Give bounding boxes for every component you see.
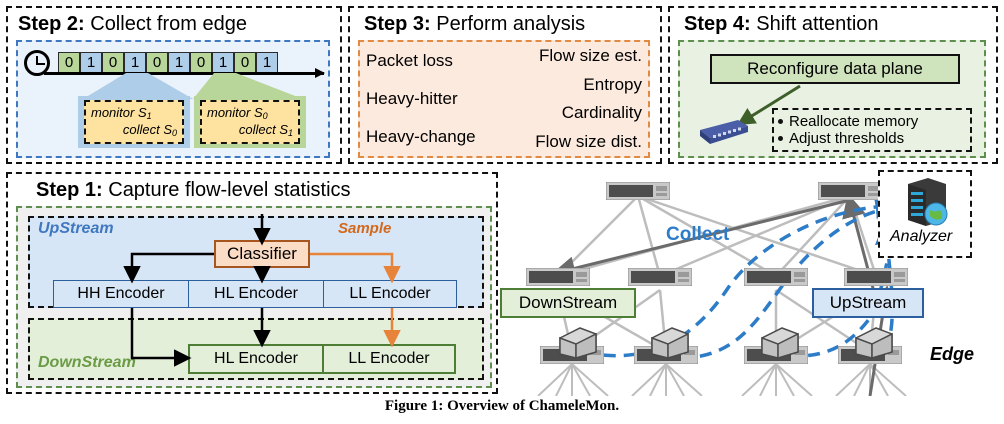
timeline-cell: 1 (80, 52, 102, 73)
bullet-dot-icon (778, 136, 783, 141)
bullet-item: Adjust thresholds (778, 130, 970, 147)
step2-body: 0 1 0 1 0 1 0 1 0 1 monitor S1 collect S… (16, 40, 330, 158)
phase-green-line1: monitor S0 (207, 105, 268, 122)
step4-panel: Step 4: Shift attention Reconfigure data… (668, 6, 998, 164)
task-item: Flow size dist. (535, 132, 642, 152)
timeline-cell: 0 (234, 52, 256, 73)
phase-blue-line2: collect S0 (123, 122, 177, 139)
timeline-cell: 1 (168, 52, 190, 73)
timeline-cell: 1 (124, 52, 146, 73)
step1-step-label: Step 1: (36, 179, 103, 201)
network-topology: Analyzer Collect DownStream UpStream Edg… (498, 168, 1004, 396)
analyzer-label: Analyzer (890, 228, 952, 246)
analysis-tasks-left: Packet loss Heavy-hitter Heavy-change (360, 42, 504, 156)
step3-step-label: Step 3: (364, 13, 431, 35)
step1-body: UpStream Sample Classifier HH Encoder HL… (16, 206, 492, 388)
network-switch-icon (694, 114, 750, 146)
step3-body: Packet loss Heavy-hitter Heavy-change Fl… (358, 40, 650, 158)
figure-caption: Figure 1: Overview of ChameleMon. (0, 398, 1004, 415)
step4-body: Reconfigure data plane Reallocate memory… (678, 40, 986, 158)
host-cube-icon (558, 326, 598, 365)
timeline-strip: 0 1 0 1 0 1 0 1 0 1 (58, 52, 278, 73)
step3-title-text: Perform analysis (431, 13, 586, 35)
server-globe-icon (902, 176, 952, 233)
phase-blue-line1: monitor S1 (91, 105, 152, 122)
step1-title: Step 1: Capture flow-level statistics (36, 180, 351, 200)
reconfigure-bullets: Reallocate memory Adjust thresholds (772, 108, 972, 152)
step2-title: Step 2: Collect from edge (18, 14, 247, 34)
task-item: Heavy-change (366, 127, 476, 147)
bullet-item: Reallocate memory (778, 113, 970, 130)
host-cube-icon (760, 326, 800, 365)
rack-switch-icon (628, 268, 692, 291)
timeline-cell: 0 (58, 52, 80, 73)
host-cube-icon (854, 326, 894, 365)
task-item: Cardinality (562, 103, 642, 123)
phase-green-line2: collect S1 (239, 122, 293, 139)
step2-panel: Step 2: Collect from edge 0 1 0 1 0 1 0 … (6, 6, 342, 164)
step1-panel: Step 1: Capture flow-level statistics Up… (6, 172, 498, 394)
step2-title-text: Collect from edge (85, 13, 247, 35)
timeline-cell: 1 (212, 52, 234, 73)
timeline-cell: 0 (102, 52, 124, 73)
phase-blue-box: monitor S1 collect S0 (84, 100, 184, 144)
edge-label: Edge (930, 344, 974, 365)
analysis-tasks-right: Flow size est. Entropy Cardinality Flow … (504, 42, 648, 156)
step2-step-label: Step 2: (18, 13, 85, 35)
task-item: Heavy-hitter (366, 89, 458, 109)
downstream-tag: DownStream (500, 288, 636, 318)
rack-switch-icon (744, 268, 808, 291)
step4-title-text: Shift attention (751, 13, 879, 35)
timeline-cell: 0 (146, 52, 168, 73)
rack-switch-icon (606, 182, 670, 205)
timeline-cell: 1 (256, 52, 278, 73)
timeline-cell: 0 (190, 52, 212, 73)
step4-step-label: Step 4: (684, 13, 751, 35)
bullet-dot-icon (778, 119, 783, 124)
step3-panel: Step 3: Perform analysis Packet loss Hea… (348, 6, 662, 164)
host-cube-icon (650, 326, 690, 365)
step1-flow-arrows (18, 208, 494, 390)
task-item: Packet loss (366, 51, 453, 71)
rack-switch-icon (818, 182, 882, 205)
task-item: Flow size est. (539, 46, 642, 66)
collect-label: Collect (666, 224, 729, 246)
phase-green-box: monitor S0 collect S1 (200, 100, 300, 144)
step3-title: Step 3: Perform analysis (364, 14, 585, 34)
task-item: Entropy (583, 75, 642, 95)
step1-title-text: Capture flow-level statistics (103, 179, 351, 201)
upstream-tag: UpStream (812, 288, 924, 318)
step4-title: Step 4: Shift attention (684, 14, 879, 34)
